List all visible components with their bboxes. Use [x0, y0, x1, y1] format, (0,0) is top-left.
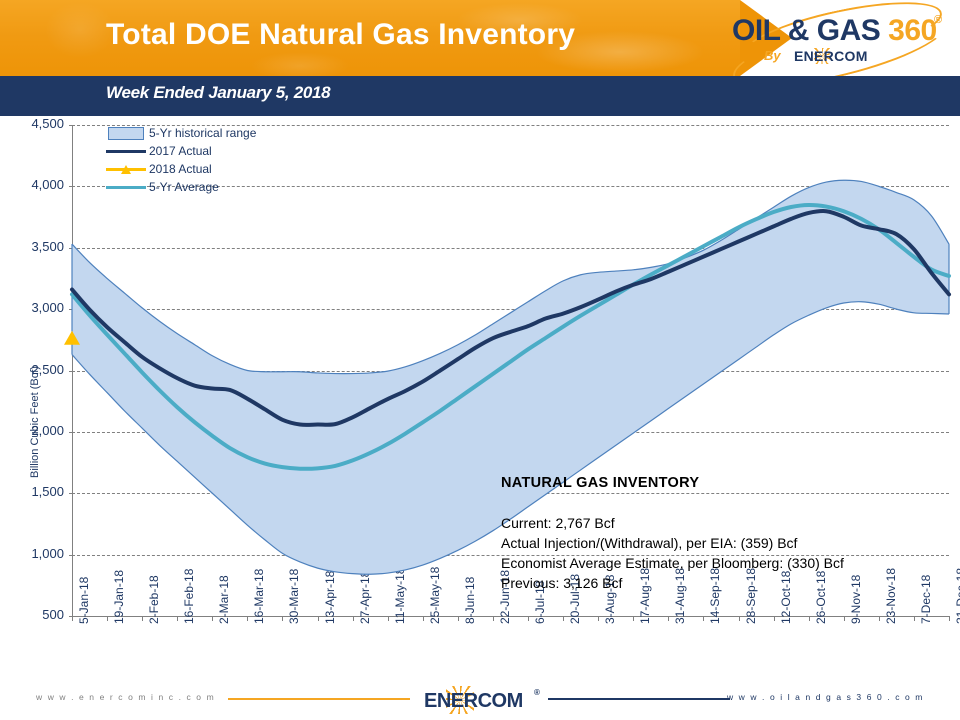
legend-label: 2017 Actual — [149, 144, 212, 158]
chart-legend: 5-Yr historical range2017 Actual2018 Act… — [106, 124, 256, 196]
legend-label: 5-Yr historical range — [149, 126, 256, 140]
footer-logo-registered-mark: ® — [534, 688, 540, 697]
logo-by-label: By — [764, 48, 781, 63]
legend-item[interactable]: 2018 Actual — [106, 160, 256, 178]
line-swatch — [106, 150, 146, 153]
footer-logo-wordmark: ENERCOM — [424, 690, 523, 713]
page-title: Total DOE Natural Gas Inventory — [106, 18, 575, 52]
week-ended-label: Week Ended January 5, 2018 — [106, 83, 330, 103]
line-swatch — [106, 186, 146, 189]
legend-label: 5-Yr Average — [149, 180, 219, 194]
legend-swatch-line-icon — [106, 145, 146, 157]
chart-plot-area: Billion Cubic Feet (Bcf) 4,5004,0003,500… — [0, 116, 960, 676]
legend-label: 2018 Actual — [149, 162, 212, 176]
logo-registered-mark: ® — [934, 14, 942, 26]
footer-link-oilandgas360[interactable]: w w w . o i l a n d g a s 3 6 0 . c o m — [727, 692, 924, 702]
legend-swatch-marker-icon — [106, 163, 146, 175]
marker-swatch — [106, 164, 146, 175]
footer-link-enercominc[interactable]: w w w . e n e r c o m i n c . c o m — [36, 692, 215, 702]
callout-line: Economist Average Estimate, per Bloomber… — [501, 553, 844, 573]
legend-item[interactable]: 5-Yr historical range — [106, 124, 256, 142]
footer-rule-left — [228, 698, 410, 700]
callout-line: Previous: 3,126 Bcf — [501, 573, 844, 593]
oil-and-gas-360-logo[interactable]: OIL & GAS 360 ® By ENERCOM — [728, 8, 954, 70]
inventory-callout: NATURAL GAS INVENTORY Current: 2,767 Bcf… — [501, 475, 844, 593]
footer: w w w . e n e r c o m i n c . c o m ENER… — [0, 676, 960, 720]
enercom-footer-logo[interactable]: ENERCOM ® — [416, 684, 546, 714]
callout-line: Actual Injection/(Withdrawal), per EIA: … — [501, 533, 844, 553]
logo-text-360: 360 — [888, 14, 937, 47]
legend-swatch-band-icon — [106, 127, 146, 139]
legend-item[interactable]: 2017 Actual — [106, 142, 256, 160]
band-swatch — [108, 127, 144, 140]
marker-triangle-icon — [121, 165, 131, 174]
logo-wordmark: OIL & GAS 360 — [732, 14, 937, 48]
legend-swatch-line-icon — [106, 181, 146, 193]
logo-text-oilgas: OIL & GAS — [732, 14, 888, 47]
callout-title: NATURAL GAS INVENTORY — [501, 475, 844, 491]
header-banner: Total DOE Natural Gas Inventory OIL & GA… — [0, 0, 960, 76]
callout-lines: Current: 2,767 BcfActual Injection/(With… — [501, 513, 844, 593]
logo-enercom-label: ENERCOM — [794, 48, 868, 64]
legend-item[interactable]: 5-Yr Average — [106, 178, 256, 196]
footer-rule-right — [548, 698, 730, 700]
callout-line: Current: 2,767 Bcf — [501, 513, 844, 533]
